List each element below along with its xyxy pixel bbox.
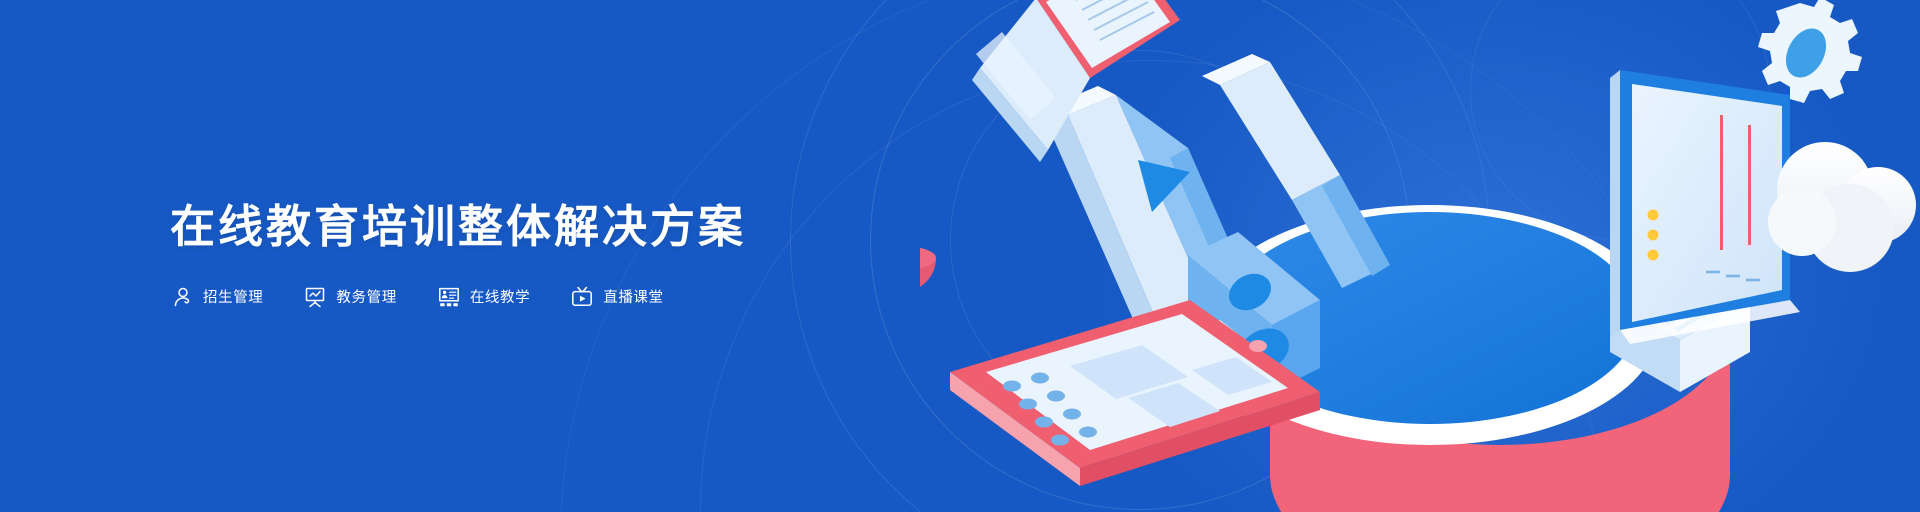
feature-label: 教务管理 [336, 286, 396, 307]
spinning-top [920, 211, 936, 303]
online-teaching-icon [437, 285, 461, 309]
illustration-container [920, 0, 1920, 512]
feature-list: 招生管理 教务管理 [170, 285, 746, 309]
cloud-large [1768, 142, 1916, 272]
feature-item-academic-affairs[interactable]: 教务管理 [303, 285, 396, 309]
feature-label: 招生管理 [203, 286, 263, 307]
feature-item-enrollment[interactable]: 招生管理 [170, 285, 263, 309]
education-hero-banner: 在线教育培训整体解决方案 招生管理 [0, 0, 1920, 512]
feature-item-online-teaching[interactable]: 在线教学 [437, 285, 530, 309]
feature-label: 直播课堂 [603, 286, 663, 307]
live-tv-play-icon [570, 285, 594, 309]
users-icon [170, 285, 194, 309]
hero-headline: 在线教育培训整体解决方案 [170, 203, 746, 250]
feature-label: 在线教学 [470, 286, 530, 307]
presentation-chart-icon [303, 285, 327, 309]
gear-icon [1758, 0, 1862, 103]
feature-item-live-classroom[interactable]: 直播课堂 [570, 285, 663, 309]
hero-text-block: 在线教育培训整体解决方案 招生管理 [170, 0, 746, 512]
isometric-education-illustration [920, 0, 1920, 512]
